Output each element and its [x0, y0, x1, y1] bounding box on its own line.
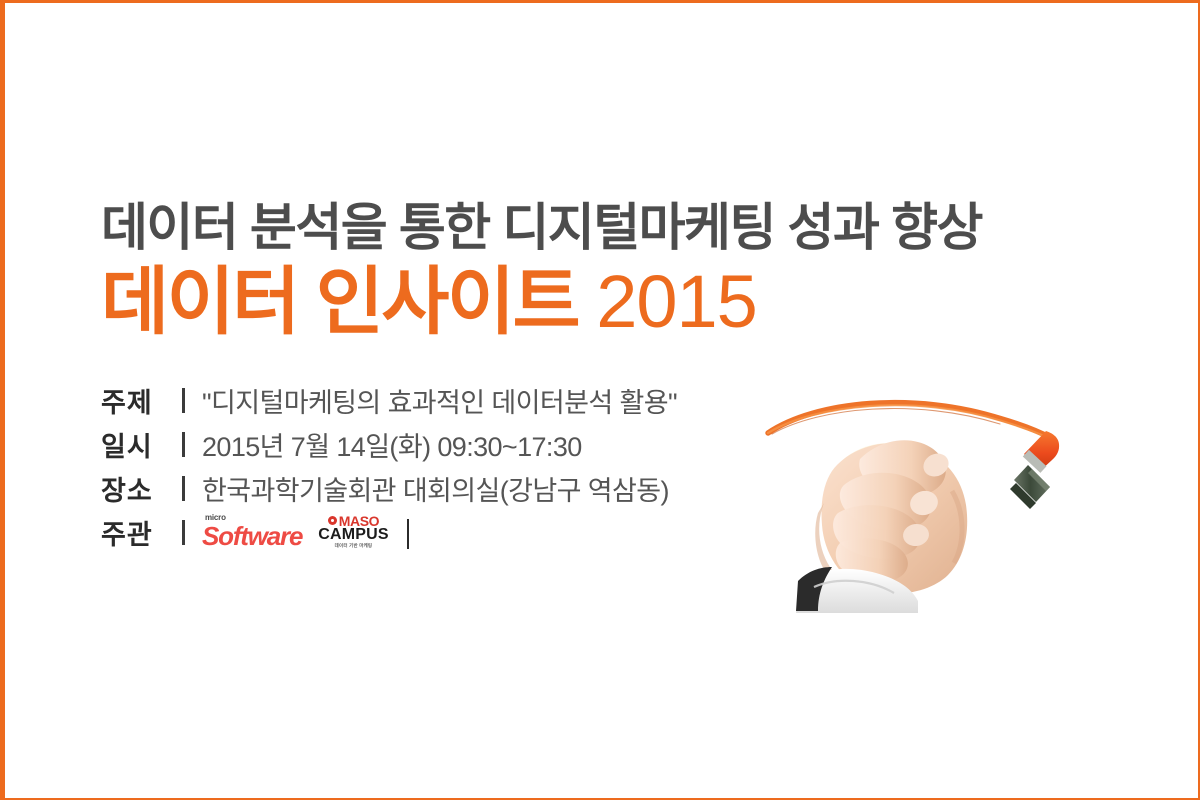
detail-value-venue: 한국과학기술회관 대회의실(강남구 역삼동): [202, 469, 669, 508]
detail-separator: [182, 388, 185, 413]
organizer-logos: micro Software MASO CAMPUS 데이터 기반 마케팅: [202, 515, 409, 549]
circle-dot-icon: [328, 516, 337, 525]
detail-row-datetime: 일시 2015년 7월 14일(화) 09:30~17:30: [101, 422, 1101, 466]
shirt-cuff: [796, 567, 918, 613]
logo-divider-bar: [407, 519, 409, 549]
event-details: 주제 "디지털마케팅의 효과적인 데이터분석 활용" 일시 2015년 7월 1…: [101, 378, 1101, 554]
poster-subtitle: 데이터 분석을 통한 디지털마케팅 성과 향상: [101, 199, 1101, 256]
micro-software-logo: micro Software: [202, 513, 302, 549]
detail-label-topic: 주제: [101, 381, 179, 420]
poster-title: 데이터 인사이트 2015: [101, 262, 1101, 342]
detail-separator: [182, 432, 185, 457]
poster-title-year: 2015: [596, 260, 757, 343]
detail-row-venue: 장소 한국과학기술회관 대회의실(강남구 역삼동): [101, 466, 1101, 510]
maso-campus-logo-campus: CAMPUS: [318, 527, 389, 543]
maso-campus-logo-tagline: 데이터 기반 마케팅: [318, 544, 389, 549]
detail-separator: [182, 476, 185, 501]
detail-value-topic: "디지털마케팅의 효과적인 데이터분석 활용": [202, 381, 677, 420]
micro-software-logo-word: Software: [202, 523, 302, 549]
detail-separator: [182, 520, 185, 545]
detail-label-datetime: 일시: [101, 425, 179, 464]
detail-label-venue: 장소: [101, 469, 179, 508]
detail-row-topic: 주제 "디지털마케팅의 효과적인 데이터분석 활용": [101, 378, 1101, 422]
detail-value-datetime: 2015년 7월 14일(화) 09:30~17:30: [202, 425, 582, 464]
event-poster: 데이터 분석을 통한 디지털마케팅 성과 향상 데이터 인사이트 2015 주제…: [0, 0, 1200, 800]
maso-campus-logo: MASO CAMPUS 데이터 기반 마케팅: [318, 514, 389, 550]
detail-row-organizer: 주관 micro Software MASO CAMPUS 데이터 기반 마케팅: [101, 510, 1101, 554]
detail-label-organizer: 주관: [101, 513, 179, 552]
poster-title-korean: 데이터 인사이트: [101, 260, 578, 343]
poster-content: 데이터 분석을 통한 디지털마케팅 성과 향상 데이터 인사이트 2015 주제…: [101, 199, 1101, 554]
